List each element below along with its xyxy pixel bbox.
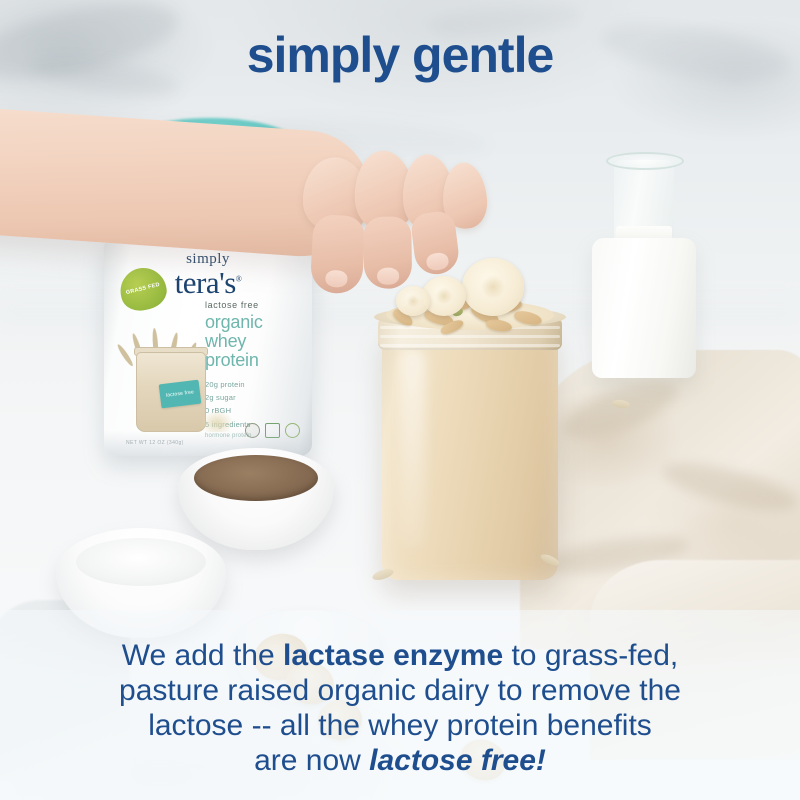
finger	[310, 214, 366, 295]
fingernail	[325, 270, 348, 288]
cloth-fold	[557, 371, 683, 450]
banana-slice	[396, 286, 430, 316]
caption-line-4: are now lactose free!	[14, 743, 786, 778]
jar-highlight	[400, 348, 426, 548]
tub-bullet: 20g protein	[205, 378, 303, 391]
caption-line-3: lactose -- all the whey protein benefits	[14, 708, 786, 743]
caption-line-1-suffix: to grass-fed,	[503, 639, 678, 672]
finger	[363, 216, 412, 289]
tub-bullet-sub: hormone protein	[205, 431, 303, 442]
usda-organic-icon	[265, 423, 280, 438]
finger	[410, 210, 461, 277]
fingernail	[426, 252, 450, 272]
milk-bottle	[592, 238, 696, 378]
tub-brand: simply tera's®	[104, 252, 312, 300]
white-powder	[76, 538, 206, 586]
caption-highlight: lactase enzyme	[283, 639, 503, 672]
jar-thread	[380, 335, 560, 338]
promo-image: grass fed simply tera's® lactose free or…	[0, 0, 800, 800]
caption-line-4-prefix: are now	[254, 744, 369, 777]
tub-lactose-free-label: lactose free	[205, 300, 303, 310]
fingernail	[377, 267, 399, 284]
tub-net-weight: NET WT 12 OZ (340g)	[126, 440, 184, 446]
tub-bullet: 2g sugar	[205, 391, 303, 404]
product-name-line-3: protein	[205, 351, 303, 370]
product-name-line-2: whey	[205, 332, 303, 351]
caption-text: We add the lactase enzyme to grass-fed, …	[14, 638, 786, 778]
page-title: simply gentle	[0, 30, 800, 80]
vanilla-illustration	[200, 410, 234, 432]
jar-tag-label: lactose free	[166, 389, 195, 399]
certified-icon	[285, 423, 300, 438]
nut-butter	[194, 455, 318, 501]
certification-badges	[245, 423, 300, 438]
caption-emphasis: lactose free!	[369, 744, 546, 777]
non-gmo-icon	[245, 423, 260, 438]
jar-thread	[380, 344, 560, 347]
reaching-hand	[296, 145, 503, 295]
caption-line-1-prefix: We add the	[122, 639, 283, 672]
caption-line-2: pasture raised organic dairy to remove t…	[14, 673, 786, 708]
cloth-fold	[658, 454, 800, 521]
jar-lactose-free-tag: lactose free	[159, 380, 202, 409]
milk-bottle-lip	[606, 152, 684, 170]
protein-tub: grass fed simply tera's® lactose free or…	[104, 238, 312, 456]
brand-trademark: ®	[236, 275, 242, 284]
mason-jar-smoothie	[382, 330, 558, 580]
product-name-line-1: organic	[205, 313, 303, 332]
caption-block: We add the lactase enzyme to grass-fed, …	[0, 638, 800, 778]
wheat-sprig	[116, 343, 135, 367]
caption-line-1: We add the lactase enzyme to grass-fed,	[14, 638, 786, 673]
brand-teras: tera's®	[104, 267, 312, 300]
